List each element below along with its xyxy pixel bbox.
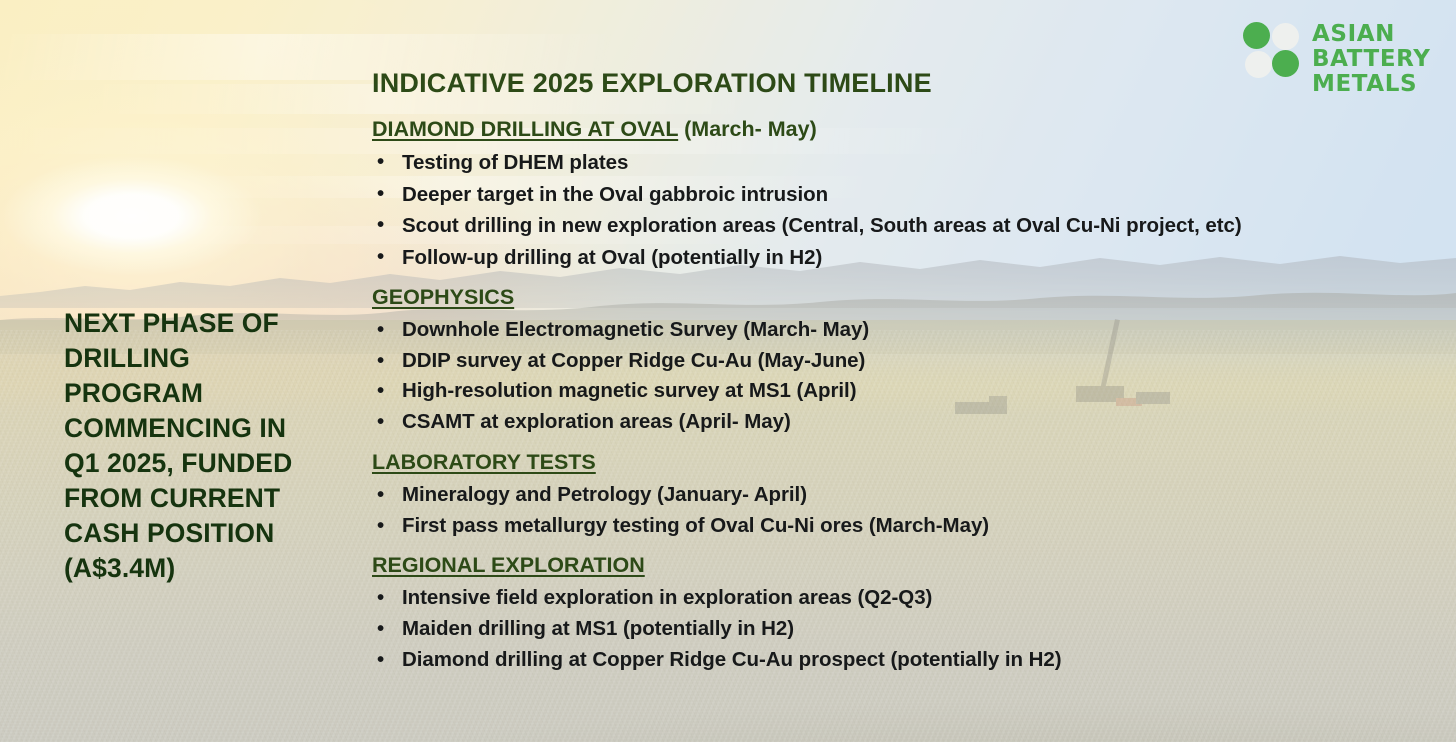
bullet-dot-icon: • — [377, 346, 384, 377]
bullet-dot-icon: • — [377, 480, 384, 511]
bullet-item: •Testing of DHEM plates — [372, 147, 1432, 179]
bullet-item: •Downhole Electromagnetic Survey (March-… — [372, 315, 1432, 346]
bullet-item: •Deeper target in the Oval gabbroic intr… — [372, 179, 1432, 211]
timeline-section: REGIONAL EXPLORATION•Intensive field exp… — [372, 550, 1432, 675]
bullet-dot-icon: • — [377, 242, 384, 273]
bullet-item: •High-resolution magnetic survey at MS1 … — [372, 376, 1432, 407]
bullet-text: High-resolution magnetic survey at MS1 (… — [402, 379, 856, 402]
timeline-section: LABORATORY TESTS•Mineralogy and Petrolog… — [372, 447, 1432, 541]
timeline-section: GEOPHYSICS•Downhole Electromagnetic Surv… — [372, 282, 1432, 438]
bullet-text: Follow-up drilling at Oval (potentially … — [402, 246, 822, 269]
section-heading-text: DIAMOND DRILLING AT OVAL — [372, 117, 678, 141]
bullet-dot-icon: • — [377, 407, 384, 438]
section-heading: DIAMOND DRILLING AT OVAL (March- May) — [372, 114, 1432, 144]
bullet-dot-icon: • — [377, 583, 384, 614]
bullet-item: •Scout drilling in new exploration areas… — [372, 210, 1432, 242]
section-heading: REGIONAL EXPLORATION — [372, 550, 1432, 580]
timeline-section: DIAMOND DRILLING AT OVAL (March- May)•Te… — [372, 114, 1432, 273]
bullet-dot-icon: • — [377, 179, 384, 210]
bullet-text: Maiden drilling at MS1 (potentially in H… — [402, 617, 794, 640]
logo-dot-top-right — [1272, 23, 1299, 50]
section-heading-text: LABORATORY TESTS — [372, 450, 596, 474]
bullet-item: •Maiden drilling at MS1 (potentially in … — [372, 614, 1432, 645]
section-bullet-list: •Intensive field exploration in explorat… — [372, 583, 1432, 675]
bullet-text: Diamond drilling at Copper Ridge Cu-Au p… — [402, 648, 1062, 671]
logo-dot-top-left — [1243, 22, 1270, 49]
bullet-text: Downhole Electromagnetic Survey (March- … — [402, 318, 869, 341]
bullet-text: CSAMT at exploration areas (April- May) — [402, 410, 791, 433]
bullet-item: •DDIP survey at Copper Ridge Cu-Au (May-… — [372, 346, 1432, 377]
bullet-item: •CSAMT at exploration areas (April- May) — [372, 407, 1432, 438]
section-heading-suffix: (March- May) — [678, 117, 817, 141]
section-heading-text: GEOPHYSICS — [372, 285, 514, 309]
timeline-title: INDICATIVE 2025 EXPLORATION TIMELINE — [372, 66, 1432, 100]
bullet-dot-icon: • — [377, 645, 384, 676]
logo-word-asian: ASIAN — [1312, 22, 1430, 47]
bullet-text: Scout drilling in new exploration areas … — [402, 214, 1242, 237]
section-heading: LABORATORY TESTS — [372, 447, 1432, 477]
bullet-dot-icon: • — [377, 614, 384, 645]
timeline-sections: DIAMOND DRILLING AT OVAL (March- May)•Te… — [372, 114, 1432, 675]
slide-content: ASIAN BATTERY METALS NEXT PHASE OF DRILL… — [0, 0, 1456, 742]
bullet-text: Testing of DHEM plates — [402, 151, 628, 174]
exploration-timeline: INDICATIVE 2025 EXPLORATION TIMELINE DIA… — [372, 66, 1432, 684]
bullet-text: Mineralogy and Petrology (January- April… — [402, 483, 807, 506]
bullet-dot-icon: • — [377, 376, 384, 407]
section-bullet-list: •Downhole Electromagnetic Survey (March-… — [372, 315, 1432, 438]
section-heading-text: REGIONAL EXPLORATION — [372, 553, 645, 577]
bullet-text: Deeper target in the Oval gabbroic intru… — [402, 183, 828, 206]
bullet-item: •Intensive field exploration in explorat… — [372, 583, 1432, 614]
bullet-item: •Diamond drilling at Copper Ridge Cu-Au … — [372, 645, 1432, 676]
bullet-text: Intensive field exploration in explorati… — [402, 586, 932, 609]
bullet-dot-icon: • — [377, 210, 384, 241]
section-heading: GEOPHYSICS — [372, 282, 1432, 312]
bullet-item: •Follow-up drilling at Oval (potentially… — [372, 242, 1432, 274]
bullet-item: •Mineralogy and Petrology (January- Apri… — [372, 480, 1432, 511]
slide-root: ASIAN BATTERY METALS NEXT PHASE OF DRILL… — [0, 0, 1456, 742]
section-bullet-list: •Testing of DHEM plates•Deeper target in… — [372, 147, 1432, 273]
bullet-dot-icon: • — [377, 511, 384, 542]
bullet-text: DDIP survey at Copper Ridge Cu-Au (May-J… — [402, 349, 865, 372]
bullet-text: First pass metallurgy testing of Oval Cu… — [402, 514, 989, 537]
bullet-dot-icon: • — [377, 147, 384, 178]
section-bullet-list: •Mineralogy and Petrology (January- Apri… — [372, 480, 1432, 541]
bullet-dot-icon: • — [377, 315, 384, 346]
funding-headline: NEXT PHASE OF DRILLING PROGRAM COMMENCIN… — [64, 306, 314, 586]
bullet-item: •First pass metallurgy testing of Oval C… — [372, 511, 1432, 542]
